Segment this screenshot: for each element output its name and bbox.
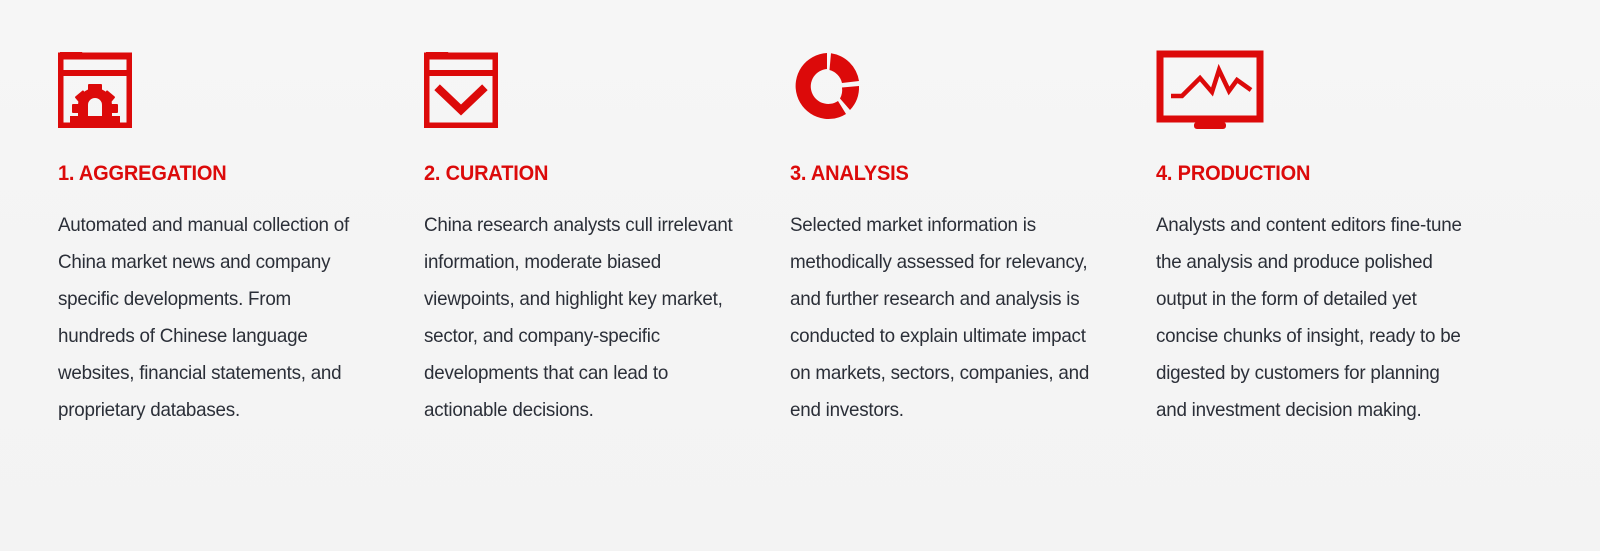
step-heading: 2. CURATION	[424, 162, 725, 186]
folder-window-gear-icon	[58, 48, 382, 140]
process-steps-row: 1. AGGREGATION Automated and manual coll…	[58, 48, 1528, 429]
step-description: China research analysts cull irrelevant …	[424, 207, 737, 429]
process-step-aggregation: 1. AGGREGATION Automated and manual coll…	[58, 48, 424, 429]
step-heading: 1. AGGREGATION	[58, 162, 359, 186]
folder-window-chevron-down-icon	[424, 48, 748, 140]
process-step-analysis: 3. ANALYSIS Selected market information …	[790, 48, 1156, 429]
step-description: Analysts and content editors fine-tune t…	[1156, 207, 1474, 429]
process-diagram: 1. AGGREGATION Automated and manual coll…	[0, 0, 1600, 551]
process-step-curation: 2. CURATION China research analysts cull…	[424, 48, 790, 429]
monitor-line-chart-icon	[1156, 48, 1486, 140]
step-heading: 4. PRODUCTION	[1156, 162, 1463, 186]
step-heading: 3. ANALYSIS	[790, 162, 1091, 186]
process-step-production: 4. PRODUCTION Analysts and content edito…	[1156, 48, 1528, 429]
step-description: Automated and manual collection of China…	[58, 207, 371, 429]
donut-chart-icon	[790, 48, 1114, 140]
step-description: Selected market information is methodica…	[790, 207, 1103, 429]
